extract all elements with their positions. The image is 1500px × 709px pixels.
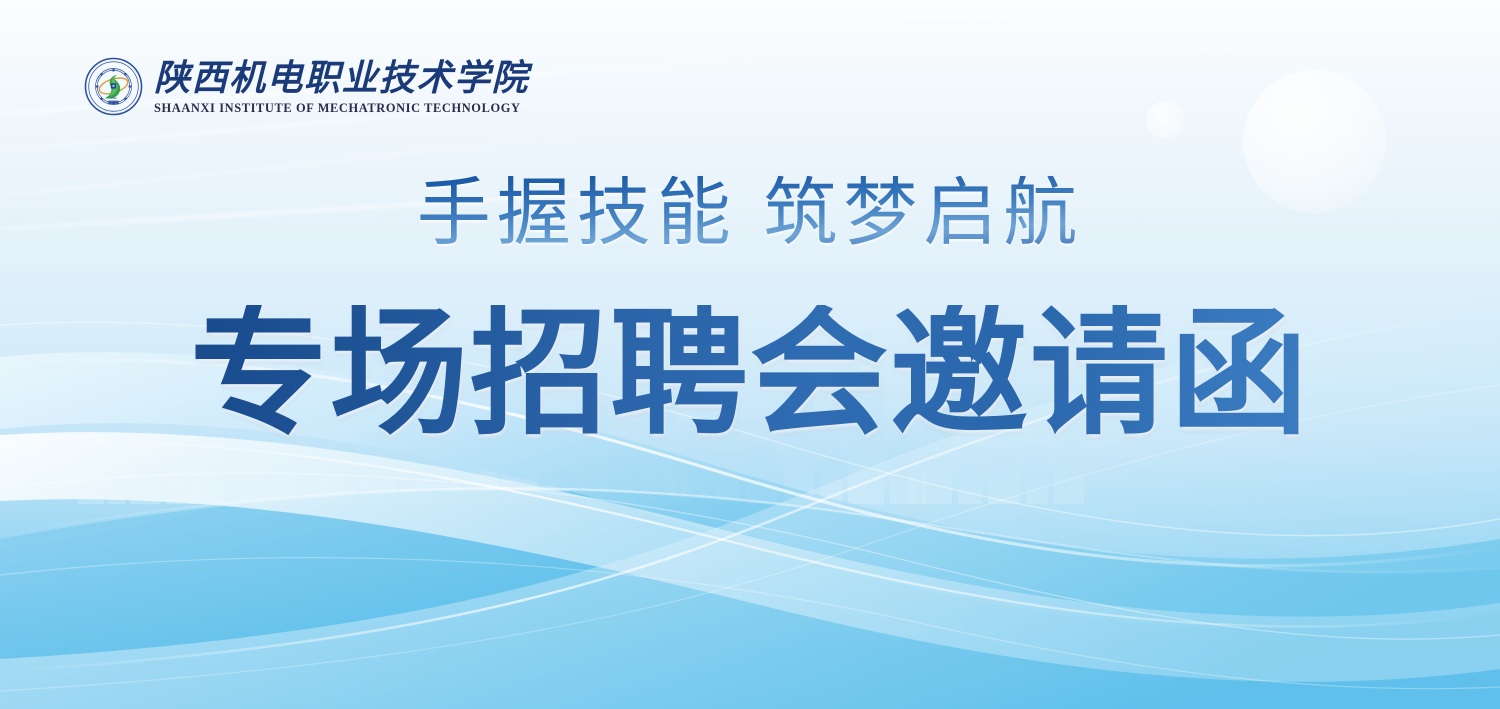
institution-name-en: SHAANXI INSTITUTE OF MECHATRONIC TECHNOL… <box>154 102 529 114</box>
university-seal-icon: 1960 <box>84 57 143 116</box>
institution-name-block: 陕西机电职业技术学院 SHAANXI INSTITUTE OF MECHATRO… <box>154 60 529 114</box>
invitation-poster: 1960 陕西机电职业技术学院 SHAANXI INSTITUTE OF MEC… <box>0 0 1500 709</box>
bokeh-circle-small-icon <box>1146 101 1184 139</box>
light-streak-icon <box>620 8 1440 31</box>
poster-title: 专场招聘会邀请函 <box>0 305 1500 443</box>
poster-subtitle: 手握技能 筑梦启航 <box>0 176 1500 250</box>
svg-text:1960: 1960 <box>110 96 117 100</box>
light-streak-icon <box>700 38 1500 55</box>
institution-name-cn: 陕西机电职业技术学院 <box>154 60 529 96</box>
institution-logo: 1960 陕西机电职业技术学院 SHAANXI INSTITUTE OF MEC… <box>84 57 529 116</box>
